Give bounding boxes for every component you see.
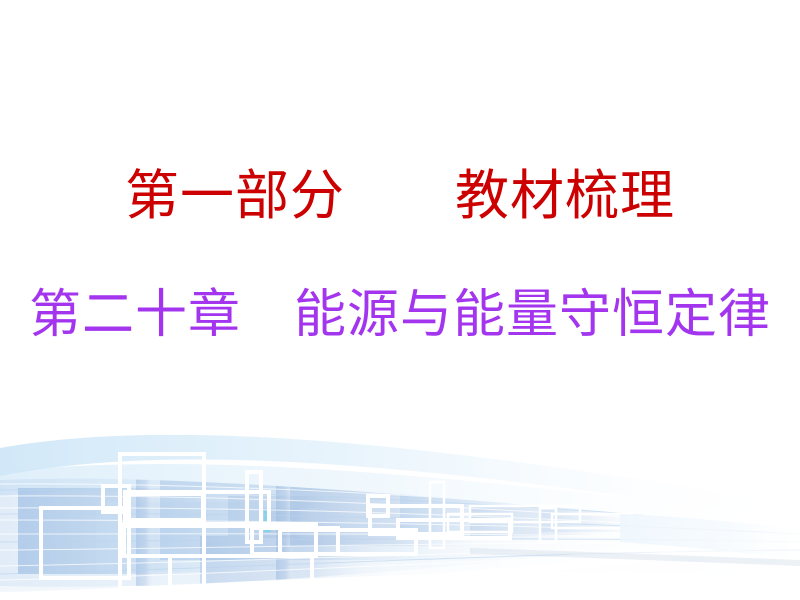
page-title-part: 第一部分 教材梳理 bbox=[0, 168, 800, 225]
decorative-graphic bbox=[0, 410, 800, 600]
swoosh-upper-2 bbox=[0, 464, 800, 536]
block-fill bbox=[200, 536, 410, 600]
block-fill bbox=[262, 508, 322, 538]
swoosh-upper bbox=[0, 435, 800, 522]
swoosh-lower-2 bbox=[0, 528, 800, 600]
block-fill bbox=[96, 502, 396, 572]
page-title-chapter: 第二十章 能源与能量守恒定律 bbox=[0, 288, 800, 343]
block-fill bbox=[400, 494, 600, 540]
block-fill bbox=[228, 496, 368, 536]
outline-rectangles bbox=[41, 454, 510, 600]
block-fill bbox=[470, 506, 620, 536]
block-fill bbox=[290, 484, 490, 546]
block-fill bbox=[540, 510, 660, 532]
block-fill bbox=[276, 482, 294, 588]
band-shadow bbox=[470, 548, 800, 566]
hairlines bbox=[0, 484, 800, 580]
perspective-slab bbox=[0, 465, 800, 600]
swoosh-lower bbox=[0, 536, 800, 600]
band-tail bbox=[620, 514, 800, 560]
outline-rectangles-thin bbox=[430, 482, 632, 548]
block-fill bbox=[160, 476, 520, 560]
block-fill bbox=[18, 488, 258, 574]
title-block: 第一部分 教材梳理 第二十章 能源与能量守恒定律 bbox=[0, 0, 800, 420]
abstract-blue-perspective-svg bbox=[0, 410, 800, 600]
cyan-accent bbox=[264, 510, 271, 532]
presentation-slide: 第一部分 教材梳理 第二十章 能源与能量守恒定律 bbox=[0, 0, 800, 600]
hairlines-blue bbox=[0, 490, 800, 574]
block-fill bbox=[136, 470, 154, 588]
